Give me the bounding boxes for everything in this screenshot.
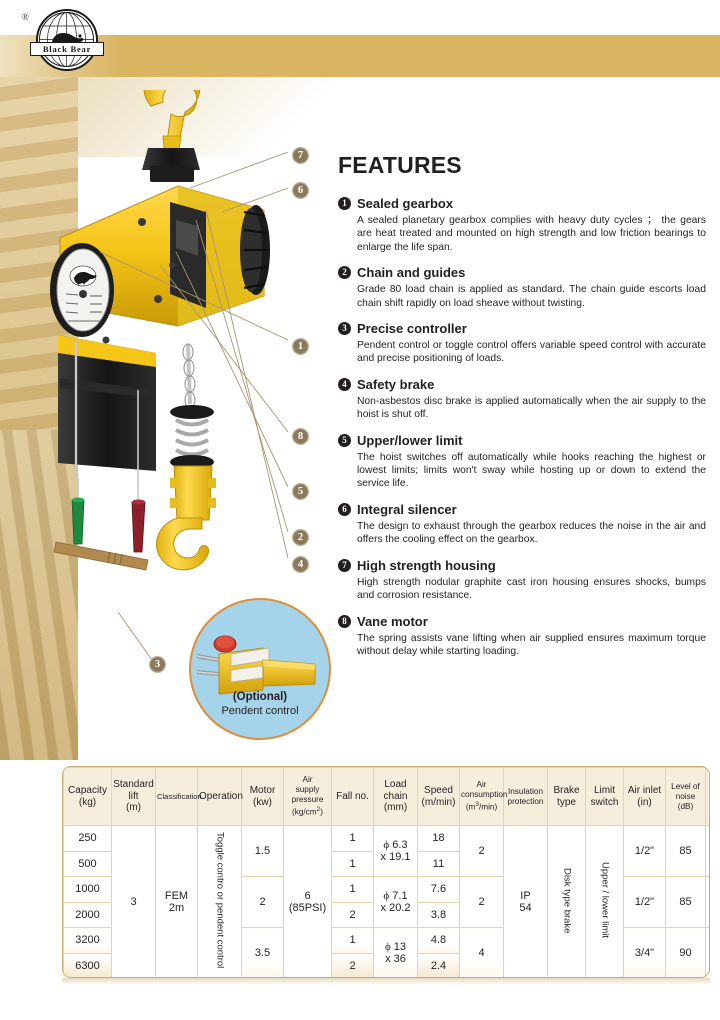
callout-marker-3[interactable]: 3 — [149, 656, 166, 673]
feature-number-icon: 5 — [338, 434, 351, 447]
cell-fall-no: 1 — [332, 826, 374, 852]
cell-level-of-noise: 90 — [666, 928, 706, 979]
bubble-caption: (Optional) Pendent control — [191, 690, 329, 718]
header-insulation-protection: Insulationprotection — [504, 768, 548, 826]
cell-main-line-air-supply: 3/4" — [706, 877, 711, 928]
page-bottom-margin — [0, 985, 720, 1020]
cell-limit-switch: Upper / lower limit — [586, 826, 624, 979]
cell-load-chain: ϕ 6.3x 19.1 — [374, 826, 418, 877]
cell-capacity: 2000 — [64, 902, 112, 928]
product-illustration-air-hoist — [20, 90, 310, 650]
pendent-control-label: Pendent control — [191, 704, 329, 718]
cell-fall-no: 2 — [332, 902, 374, 928]
header-fall-no: Fall no. — [332, 768, 374, 826]
cell-level-of-noise: 85 — [666, 877, 706, 928]
cell-motor: 2 — [242, 877, 284, 928]
callout-marker-4[interactable]: 4 — [292, 556, 309, 573]
cell-air-consumption: 4 — [460, 928, 504, 979]
cell-air-inlet: 1/2" — [624, 877, 666, 928]
cell-air-supply-pressure: 6(85PSI) — [284, 826, 332, 979]
cell-brake-type: Disk type brake — [548, 826, 586, 979]
feature-title: Vane motor — [357, 614, 428, 629]
cell-classification: FEM2m — [156, 826, 198, 979]
cell-motor: 3.5 — [242, 928, 284, 979]
feature-number-icon: 1 — [338, 197, 351, 210]
feature-body: The hoist switches off automatically whi… — [338, 451, 708, 491]
header-motor: Motor(kw) — [242, 768, 284, 826]
features-title: FEATURES — [338, 152, 708, 179]
feature-body: The spring assists vane lifting when air… — [338, 632, 708, 659]
table-shadow — [62, 978, 710, 985]
feature-body: High strength nodular graphite cast iron… — [338, 576, 708, 603]
cell-fall-no: 1 — [332, 851, 374, 877]
feature-header: 7 High strength housing — [338, 558, 708, 573]
cell-main-line-air-supply: 3/4" — [706, 826, 711, 877]
bear-globe-icon — [36, 9, 98, 71]
cell-main-line-air-supply: 2" — [706, 928, 711, 979]
feature-item-4: 4 Safety brake Non-asbestos disc brake i… — [338, 377, 708, 422]
feature-item-7: 7 High strength housing High strength no… — [338, 558, 708, 603]
header-air-consumption: Airconsumption(m3/min) — [460, 768, 504, 826]
feature-item-6: 6 Integral silencer The design to exhaus… — [338, 502, 708, 547]
brand-logo: ® Black Bear — [22, 6, 114, 74]
feature-header: 2 Chain and guides — [338, 265, 708, 280]
callout-marker-1[interactable]: 1 — [292, 338, 309, 355]
cell-capacity: 3200 — [64, 928, 112, 954]
brand-name: Black Bear — [30, 42, 104, 56]
feature-title: Upper/lower limit — [357, 433, 462, 448]
cell-speed: 7.6 — [418, 877, 460, 903]
feature-title: Integral silencer — [357, 502, 457, 517]
cell-air-inlet: 1/2" — [624, 826, 666, 877]
header-capacity: Capacity(kg) — [64, 768, 112, 826]
callout-marker-2[interactable]: 2 — [292, 529, 309, 546]
callout-marker-8[interactable]: 8 — [292, 428, 309, 445]
cell-speed: 3.8 — [418, 902, 460, 928]
table-header-row: Capacity(kg) Standardlift(m) Classificat… — [64, 768, 711, 826]
features-section: FEATURES 1 Sealed gearbox A sealed plane… — [338, 152, 708, 669]
cell-level-of-noise: 85 — [666, 826, 706, 877]
feature-body: Non-asbestos disc brake is applied autom… — [338, 395, 708, 422]
feature-number-icon: 7 — [338, 559, 351, 572]
header-limit-switch: Limitswitch — [586, 768, 624, 826]
header-brake-type: Braketype — [548, 768, 586, 826]
feature-item-8: 8 Vane motor The spring assists vane lif… — [338, 614, 708, 659]
feature-header: 6 Integral silencer — [338, 502, 708, 517]
optional-pendent-control-bubble: (Optional) Pendent control — [189, 598, 331, 740]
feature-header: 4 Safety brake — [338, 377, 708, 392]
table-row: 250 3 FEM2m Toggle contro or pendent con… — [64, 826, 711, 852]
cell-load-chain: ϕ 13x 36 — [374, 928, 418, 979]
feature-number-icon: 6 — [338, 503, 351, 516]
header-load-chain: Loadchain(mm) — [374, 768, 418, 826]
cell-air-consumption: 2 — [460, 877, 504, 928]
header-level-of-noise: Level ofnoise(dB) — [666, 768, 706, 826]
feature-item-5: 5 Upper/lower limit The hoist switches o… — [338, 433, 708, 491]
feature-item-2: 2 Chain and guides Grade 80 load chain i… — [338, 265, 708, 310]
feature-number-icon: 3 — [338, 322, 351, 335]
cell-speed: 11 — [418, 851, 460, 877]
feature-title: Chain and guides — [357, 265, 465, 280]
feature-item-1: 1 Sealed gearbox A sealed planetary gear… — [338, 196, 708, 254]
cell-speed: 18 — [418, 826, 460, 852]
feature-header: 5 Upper/lower limit — [338, 433, 708, 448]
feature-title: High strength housing — [357, 558, 496, 573]
cell-air-inlet: 3/4" — [624, 928, 666, 979]
cell-capacity: 250 — [64, 826, 112, 852]
feature-number-icon: 8 — [338, 615, 351, 628]
specification-table: Capacity(kg) Standardlift(m) Classificat… — [62, 766, 710, 978]
feature-header: 8 Vane motor — [338, 614, 708, 629]
cell-operation: Toggle contro or pendent control — [198, 826, 242, 979]
feature-header: 1 Sealed gearbox — [338, 196, 708, 211]
cell-fall-no: 1 — [332, 928, 374, 954]
optional-label: (Optional) — [191, 690, 329, 704]
cell-standard-lift: 3 — [112, 826, 156, 979]
registered-trademark-icon: ® — [22, 12, 29, 22]
feature-body: Pendent control or toggle control offers… — [338, 339, 708, 366]
cell-fall-no: 1 — [332, 877, 374, 903]
header-air-supply-pressure: Airsupplypressure(kg/cm2) — [284, 768, 332, 826]
cell-speed: 4.8 — [418, 928, 460, 954]
feature-item-3: 3 Precise controller Pendent control or … — [338, 321, 708, 366]
cell-air-consumption: 2 — [460, 826, 504, 877]
feature-title: Sealed gearbox — [357, 196, 453, 211]
cell-motor: 1.5 — [242, 826, 284, 877]
cell-load-chain: ϕ 7.1x 20.2 — [374, 877, 418, 928]
cell-fall-no: 2 — [332, 953, 374, 978]
callout-marker-6[interactable]: 6 — [292, 182, 309, 199]
feature-body: A sealed planetary gearbox complies with… — [338, 214, 708, 254]
callout-marker-7[interactable]: 7 — [292, 147, 309, 164]
feature-body: The design to exhaust through the gearbo… — [338, 520, 708, 547]
cell-capacity: 1000 — [64, 877, 112, 903]
cell-capacity: 6300 — [64, 953, 112, 978]
header-classification: Classification — [156, 768, 198, 826]
feature-header: 3 Precise controller — [338, 321, 708, 336]
feature-number-icon: 2 — [338, 266, 351, 279]
header-operation: Operation — [198, 768, 242, 826]
header-main-line-air-supply: Main lineAir supply(in) — [706, 768, 711, 826]
cell-speed: 2.4 — [418, 953, 460, 978]
header-speed: Speed(m/min) — [418, 768, 460, 826]
feature-number-icon: 4 — [338, 378, 351, 391]
cell-capacity: 500 — [64, 851, 112, 877]
header-standard-lift: Standardlift(m) — [112, 768, 156, 826]
feature-body: Grade 80 load chain is applied as standa… — [338, 283, 708, 310]
header-air-inlet: Air inlet(in) — [624, 768, 666, 826]
callout-marker-5[interactable]: 5 — [292, 483, 309, 500]
feature-title: Precise controller — [357, 321, 467, 336]
feature-title: Safety brake — [357, 377, 434, 392]
cell-insulation-protection: IP54 — [504, 826, 548, 979]
